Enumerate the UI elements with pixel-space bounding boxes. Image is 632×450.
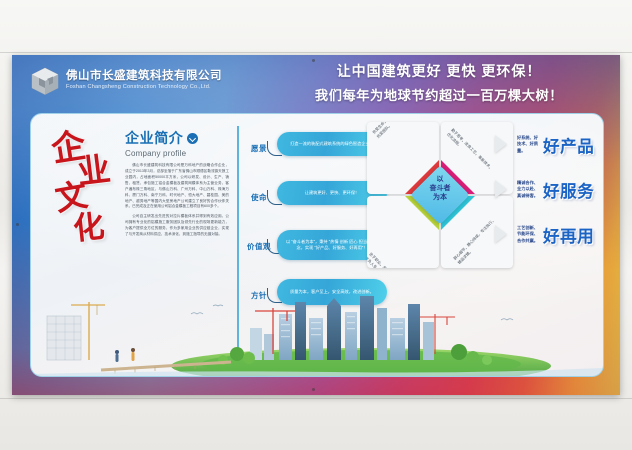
wall-seam-bottom bbox=[0, 398, 632, 399]
profile-title-cn: 企业简介 bbox=[125, 128, 183, 148]
arrow-icon-reuse bbox=[495, 225, 507, 243]
good-item-reuse: 工艺创新、节能环保、合作共赢。 好再用 bbox=[517, 216, 603, 253]
profile-heading: 企业简介 bbox=[125, 128, 229, 148]
culture-diamond-diagram: 热爱生命，热爱生活，热爱工作，热爱团队。 热情 勤于思考，改良工艺，革新技术，优… bbox=[365, 120, 515, 270]
value-text-mission: 让建筑更好、更快、更环保！ bbox=[305, 190, 359, 196]
calligraphy-char-4: 化 bbox=[71, 201, 107, 249]
poster-header: 佛山市长盛建筑科技有限公司 Foshan Changsheng Construc… bbox=[12, 55, 620, 108]
profile-paragraph-2: 公司自主研发出先进的对拉片模板体系并得到有效应用。公司拥有专业化的铝模施工服务团… bbox=[125, 214, 229, 238]
diamond-center-label: 以 奋斗者 为本 bbox=[415, 176, 465, 202]
good-title-product: 好产品 bbox=[543, 133, 594, 157]
good-item-service: 精诚合作、全力以赴、真诚待客。 好服务 bbox=[517, 171, 603, 208]
good-title-reuse: 好再用 bbox=[543, 223, 594, 247]
wall-seam-top bbox=[0, 52, 632, 53]
profile-body: 佛山市长盛建筑科技有限公司是万科地产的战略合作企业，成立于2013年3月，总部坐… bbox=[125, 163, 229, 238]
arrow-icon-product bbox=[495, 135, 507, 153]
city-skyline-illustration bbox=[31, 288, 603, 376]
content-card: 企 业 文 化 企业简介 Company profile 佛山市长盛建筑科技有限… bbox=[30, 113, 604, 377]
good-sub-reuse: 工艺创新、节能环保、合作共赢。 bbox=[517, 225, 541, 245]
poster-fixing-top bbox=[312, 59, 315, 62]
company-name-cn: 佛山市长盛建筑科技有限公司 bbox=[66, 71, 222, 83]
profile-paragraph-1: 佛山市长盛建筑科技有限公司是万科地产的战略合作企业，成立于2013年3月，总部坐… bbox=[125, 163, 229, 210]
diamond-center-line-2: 奋斗者 bbox=[415, 185, 465, 194]
calligraphy-corporate-culture: 企 业 文 化 bbox=[49, 120, 121, 255]
diamond-desc-responsibility: 忠于职业，忠心客户，勇于担当，不负人生。 bbox=[367, 252, 412, 268]
profile-title-en: Company profile bbox=[125, 149, 229, 158]
culture-poster: 佛山市长盛建筑科技有限公司 Foshan Changsheng Construc… bbox=[12, 55, 620, 395]
value-text-vision: 打造一流的装配式建筑系统的绿色智造企业！ bbox=[290, 141, 374, 147]
good-title-service: 好服务 bbox=[543, 178, 594, 202]
poster-fixing-bottom bbox=[312, 388, 315, 391]
good-outcomes-list: 好系统、好技术、好质量。 好产品 精诚合作、全力以赴、真诚待客。 好服务 工艺创… bbox=[517, 126, 603, 261]
good-item-product: 好系统、好技术、好质量。 好产品 bbox=[517, 126, 603, 163]
good-sub-product: 好系统、好技术、好质量。 bbox=[517, 135, 541, 155]
people-figures bbox=[115, 348, 135, 362]
screenshot-root: 佛山市长盛建筑科技有限公司 Foshan Changsheng Construc… bbox=[0, 0, 632, 450]
good-sub-service: 精诚合作、全力以赴、真诚待客。 bbox=[517, 180, 541, 200]
company-name-en: Foshan Changsheng Construction Technolog… bbox=[66, 85, 222, 91]
diamond-center-line-3: 为本 bbox=[415, 194, 465, 203]
chevron-down-circle-icon bbox=[187, 133, 198, 144]
city-skyline-svg bbox=[31, 288, 603, 376]
slogan-line-2: 我们每年为地球节约超过一百万棵大树！ bbox=[274, 85, 604, 104]
header-slogan: 让中国建筑更好 更快 更环保！ 我们每年为地球节约超过一百万棵大树！ bbox=[274, 61, 604, 104]
diamond-center-line-1: 以 bbox=[415, 176, 465, 185]
arrow-icon-service bbox=[495, 180, 507, 198]
slogan-line-1: 让中国建筑更好 更快 更环保！ bbox=[274, 61, 604, 81]
diamond-desc-passion: 热爱生命，热爱生活，热爱工作，热爱团队。 bbox=[372, 122, 421, 140]
poster-fixing-left bbox=[16, 223, 19, 226]
cube-logo-icon bbox=[30, 66, 60, 96]
company-profile-section: 企业简介 Company profile 佛山市长盛建筑科技有限公司是万科地产的… bbox=[125, 128, 229, 242]
construction-site-left bbox=[47, 302, 105, 360]
company-logo: 佛山市长盛建筑科技有限公司 Foshan Changsheng Construc… bbox=[30, 66, 222, 96]
